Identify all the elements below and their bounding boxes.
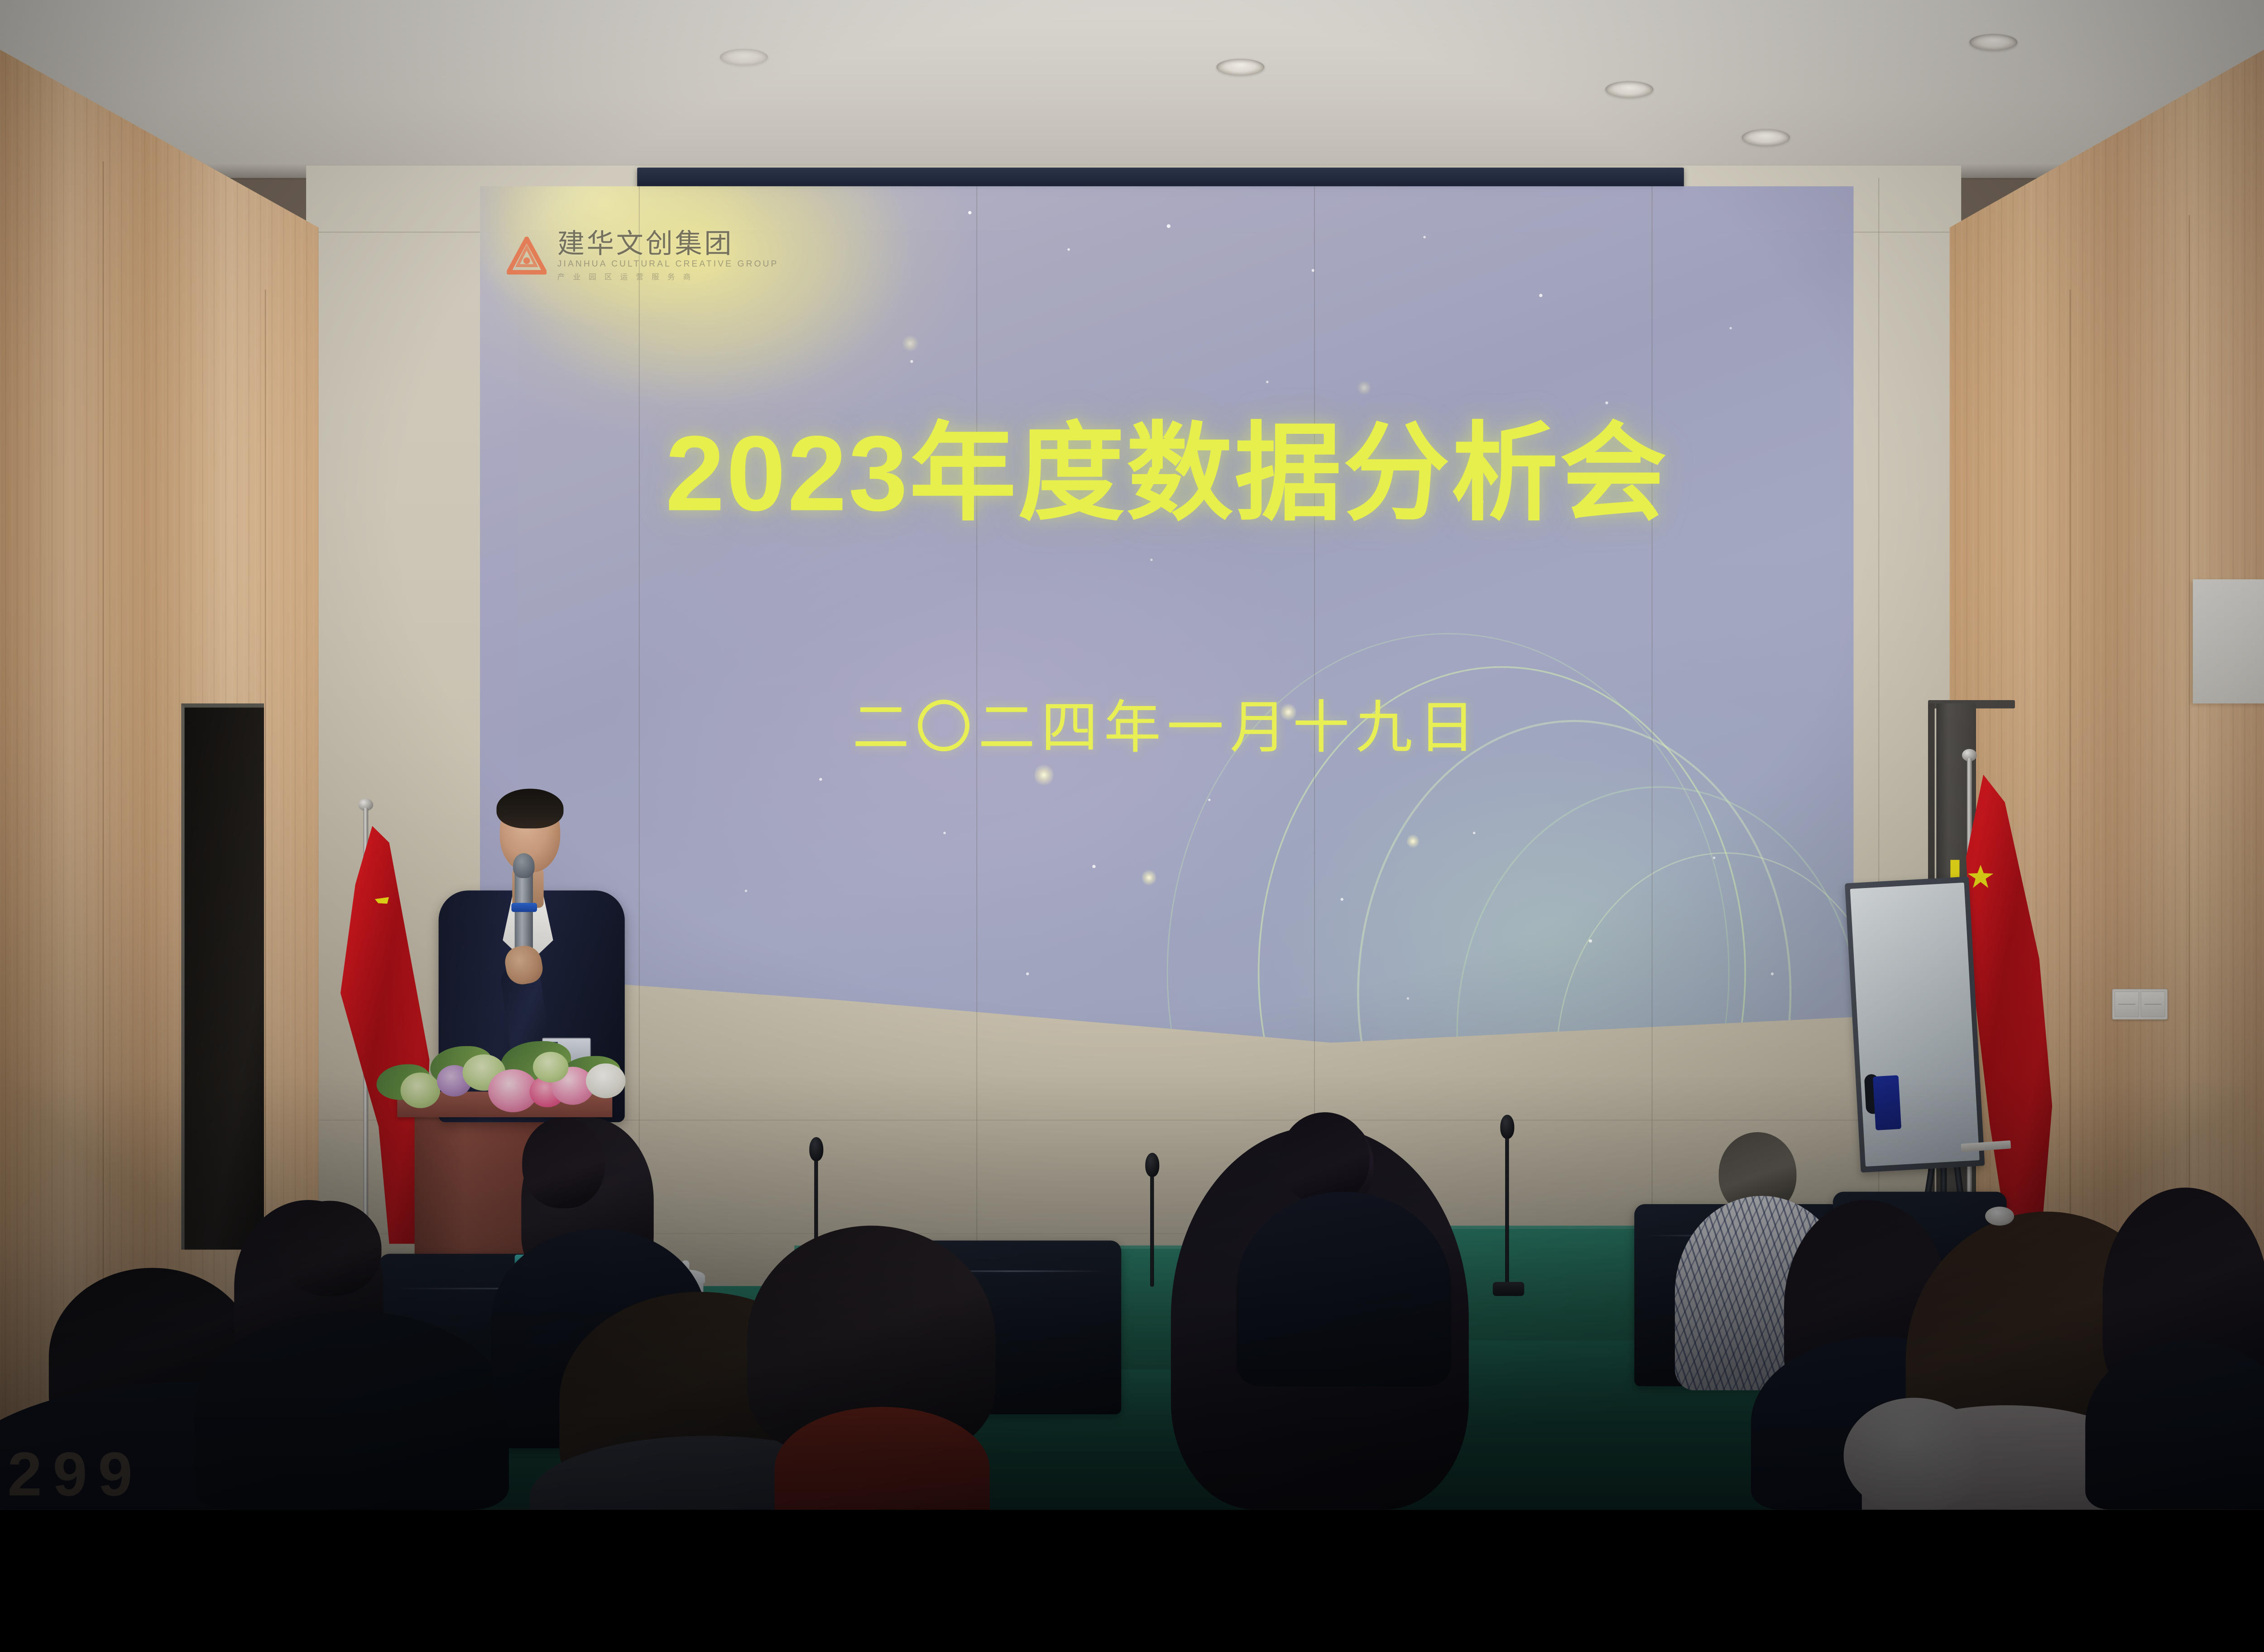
attendee-front-right-hairtie — [1985, 1206, 2014, 1225]
speaker-hair — [496, 789, 563, 829]
flipchart-easel[interactable] — [1845, 876, 1985, 1172]
projected-slide — [480, 186, 1854, 1042]
logo-tagline: 产业园区运营服务商 — [557, 271, 779, 282]
gooseneck-microphone-capsule — [1145, 1153, 1159, 1177]
gooseneck-microphone-base — [1493, 1282, 1524, 1296]
gooseneck-microphone-capsule — [1500, 1115, 1514, 1139]
slide-title: 2023年度数据分析会 — [480, 420, 1854, 527]
logo-company-name-cn: 建华文创集团 — [557, 230, 779, 257]
attendee-mid-right-body — [1236, 1192, 1451, 1386]
light-switch-left[interactable] — [2115, 991, 2139, 1017]
rose-green — [401, 1072, 441, 1108]
light-switch-plate[interactable] — [2112, 989, 2168, 1020]
whiteboard-surface[interactable] — [1850, 883, 1980, 1167]
company-logo: 建华文创集团 JIANHUA CULTURAL CREATIVE GROUP 产… — [507, 230, 778, 282]
rose-white — [586, 1063, 626, 1098]
conference-room-photo: 建华文创集团 JIANHUA CULTURAL CREATIVE GROUP 产… — [0, 0, 2264, 1509]
white-wall-panel — [2193, 579, 2264, 703]
microphone-capsule — [513, 853, 535, 878]
attendee-front-left-2-body — [194, 1311, 508, 1510]
gooseneck-microphone-stem — [1505, 1133, 1509, 1294]
attendee-front-left-jacket-number: 299 — [7, 1438, 143, 1509]
downlight-3 — [1969, 34, 2017, 51]
downlight-1 — [1216, 59, 1264, 76]
attendee-behind-flag-head — [278, 1201, 381, 1296]
logo-company-name-en: JIANHUA CULTURAL CREATIVE GROUP — [557, 259, 779, 269]
light-switch-right[interactable] — [2141, 991, 2165, 1017]
attendee-near-podium-head — [522, 1117, 605, 1208]
downlight-2 — [1605, 81, 1653, 98]
microphone-blue-band — [511, 903, 537, 912]
left-doorway-recess[interactable] — [181, 703, 264, 1249]
floral-arrangement — [364, 1029, 629, 1112]
gooseneck-microphone-stem — [1150, 1169, 1154, 1287]
downlight-4 — [1742, 129, 1790, 146]
gooseneck-microphone-capsule — [809, 1137, 823, 1161]
whiteboard-magnet-blue[interactable] — [1873, 1075, 1901, 1130]
downlight-5 — [720, 49, 768, 66]
attendee-mid-right-head — [1280, 1112, 1369, 1204]
slide-date: 二〇二四年一月十九日 — [480, 699, 1854, 756]
triangle-logo-icon — [507, 237, 547, 275]
projection-screen-housing — [637, 168, 1684, 189]
rose-green — [533, 1052, 569, 1083]
ceiling — [0, 0, 2264, 178]
attendee-front-right-fur-collar — [1844, 1398, 1985, 1510]
